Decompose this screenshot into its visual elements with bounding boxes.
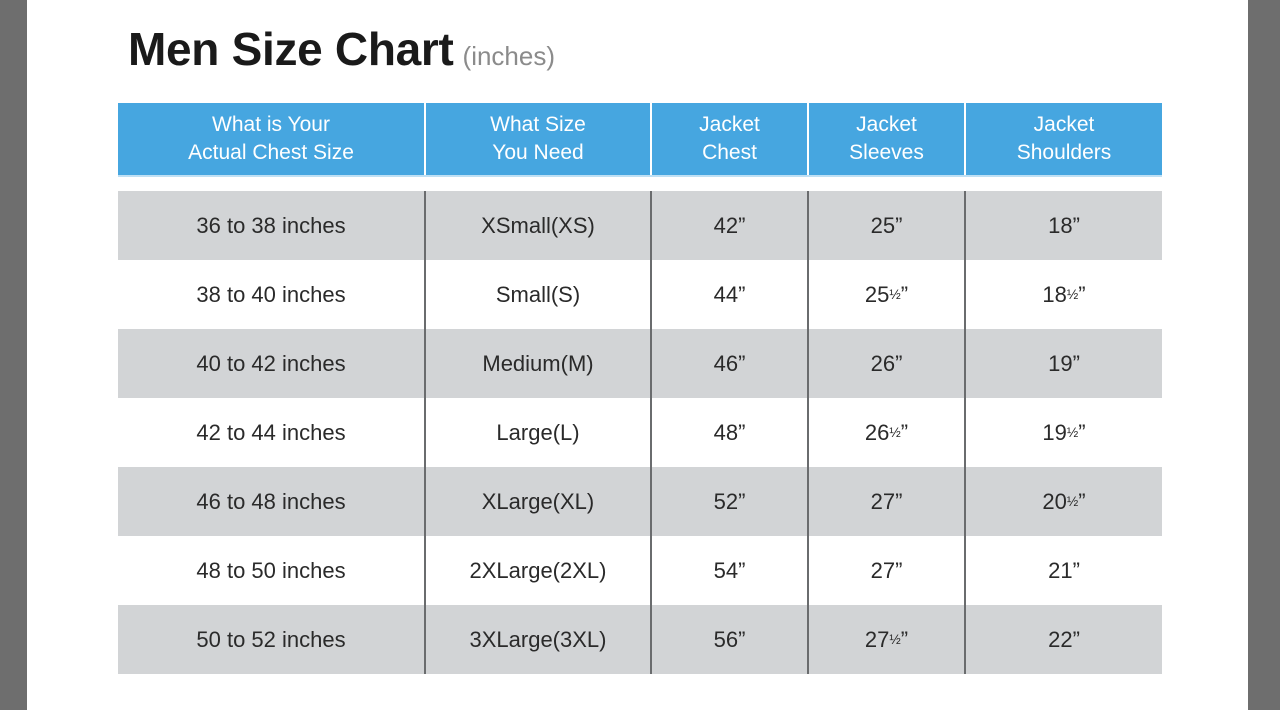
table-header: What is YourActual Chest SizeWhat SizeYo…	[118, 103, 1162, 176]
column-header-line1: Jacket	[815, 111, 958, 139]
half-fraction: ½	[1067, 425, 1078, 440]
letterbox-band-left	[0, 0, 27, 710]
cell-jacket-shoulders: 19”	[965, 329, 1162, 398]
cell-jacket-sleeves: 27”	[808, 467, 965, 536]
cell-jacket-shoulders: 22”	[965, 605, 1162, 674]
inch-mark: ”	[901, 282, 908, 307]
cell-size-needed: 2XLarge(2XL)	[425, 536, 651, 605]
cell-size-needed: XSmall(XS)	[425, 191, 651, 260]
half-fraction: ½	[889, 425, 900, 440]
cell-jacket-sleeves: 27”	[808, 536, 965, 605]
column-header-line2: You Need	[432, 139, 644, 167]
table-row: 46 to 48 inchesXLarge(XL)52”27”20½”	[118, 467, 1162, 536]
half-fraction: ½	[1067, 494, 1078, 509]
cell-jacket-chest: 48”	[651, 398, 808, 467]
slide-canvas: Men Size Chart (inches) What is YourActu…	[27, 0, 1248, 710]
column-header-line2: Sleeves	[815, 139, 958, 167]
column-header-jacket-sleeves: JacketSleeves	[808, 103, 965, 176]
column-header-line1: Jacket	[658, 111, 801, 139]
cell-chest-range: 36 to 38 inches	[118, 191, 425, 260]
inch-mark: ”	[901, 420, 908, 445]
cell-jacket-shoulders: 19½”	[965, 398, 1162, 467]
column-header-line2: Actual Chest Size	[124, 139, 418, 167]
cell-jacket-chest: 46”	[651, 329, 808, 398]
half-fraction: ½	[889, 287, 900, 302]
page-title: Men Size Chart (inches)	[128, 22, 555, 76]
cell-size-needed: XLarge(XL)	[425, 467, 651, 536]
table-row: 42 to 44 inchesLarge(L)48”26½”19½”	[118, 398, 1162, 467]
page-title-unit: (inches)	[463, 41, 555, 72]
cell-jacket-chest: 56”	[651, 605, 808, 674]
table-row: 36 to 38 inchesXSmall(XS)42”25”18”	[118, 191, 1162, 260]
cell-jacket-chest: 54”	[651, 536, 808, 605]
cell-size-needed: Large(L)	[425, 398, 651, 467]
cell-jacket-sleeves: 27½”	[808, 605, 965, 674]
header-body-gap-cell	[118, 176, 1162, 191]
half-fraction: ½	[889, 632, 900, 647]
cell-chest-range: 42 to 44 inches	[118, 398, 425, 467]
cell-size-needed: 3XLarge(3XL)	[425, 605, 651, 674]
cell-jacket-sleeves: 26½”	[808, 398, 965, 467]
cell-jacket-shoulders: 21”	[965, 536, 1162, 605]
column-header-chest-range: What is YourActual Chest Size	[118, 103, 425, 176]
cell-size-needed: Small(S)	[425, 260, 651, 329]
table-row: 38 to 40 inchesSmall(S)44”25½”18½”	[118, 260, 1162, 329]
half-fraction: ½	[1067, 287, 1078, 302]
cell-jacket-chest: 44”	[651, 260, 808, 329]
cell-jacket-shoulders: 18”	[965, 191, 1162, 260]
screenshot-stage: Men Size Chart (inches) What is YourActu…	[0, 0, 1280, 710]
cell-jacket-sleeves: 25”	[808, 191, 965, 260]
cell-chest-range: 46 to 48 inches	[118, 467, 425, 536]
column-header-size-needed: What SizeYou Need	[425, 103, 651, 176]
table-row: 50 to 52 inches3XLarge(3XL)56”27½”22”	[118, 605, 1162, 674]
column-header-jacket-shoulders: JacketShoulders	[965, 103, 1162, 176]
table-row: 48 to 50 inches2XLarge(2XL)54”27”21”	[118, 536, 1162, 605]
inch-mark: ”	[1078, 489, 1085, 514]
table-row: 40 to 42 inchesMedium(M)46”26”19”	[118, 329, 1162, 398]
cell-jacket-sleeves: 25½”	[808, 260, 965, 329]
column-header-line1: Jacket	[972, 111, 1156, 139]
cell-chest-range: 48 to 50 inches	[118, 536, 425, 605]
inch-mark: ”	[1078, 420, 1085, 445]
size-chart-table: What is YourActual Chest SizeWhat SizeYo…	[118, 103, 1162, 674]
column-header-jacket-chest: JacketChest	[651, 103, 808, 176]
cell-jacket-chest: 42”	[651, 191, 808, 260]
column-header-line1: What is Your	[124, 111, 418, 139]
page-title-main: Men Size Chart	[128, 22, 454, 76]
size-chart-table-wrapper: What is YourActual Chest SizeWhat SizeYo…	[118, 103, 1162, 674]
inch-mark: ”	[1078, 282, 1085, 307]
cell-chest-range: 40 to 42 inches	[118, 329, 425, 398]
table-header-row: What is YourActual Chest SizeWhat SizeYo…	[118, 103, 1162, 176]
cell-chest-range: 38 to 40 inches	[118, 260, 425, 329]
cell-jacket-shoulders: 18½”	[965, 260, 1162, 329]
inch-mark: ”	[901, 627, 908, 652]
column-header-line2: Chest	[658, 139, 801, 167]
cell-jacket-sleeves: 26”	[808, 329, 965, 398]
cell-chest-range: 50 to 52 inches	[118, 605, 425, 674]
header-body-gap	[118, 176, 1162, 191]
table-body: 36 to 38 inchesXSmall(XS)42”25”18”38 to …	[118, 176, 1162, 674]
cell-jacket-shoulders: 20½”	[965, 467, 1162, 536]
cell-size-needed: Medium(M)	[425, 329, 651, 398]
column-header-line2: Shoulders	[972, 139, 1156, 167]
letterbox-band-right	[1248, 0, 1280, 710]
cell-jacket-chest: 52”	[651, 467, 808, 536]
column-header-line1: What Size	[432, 111, 644, 139]
